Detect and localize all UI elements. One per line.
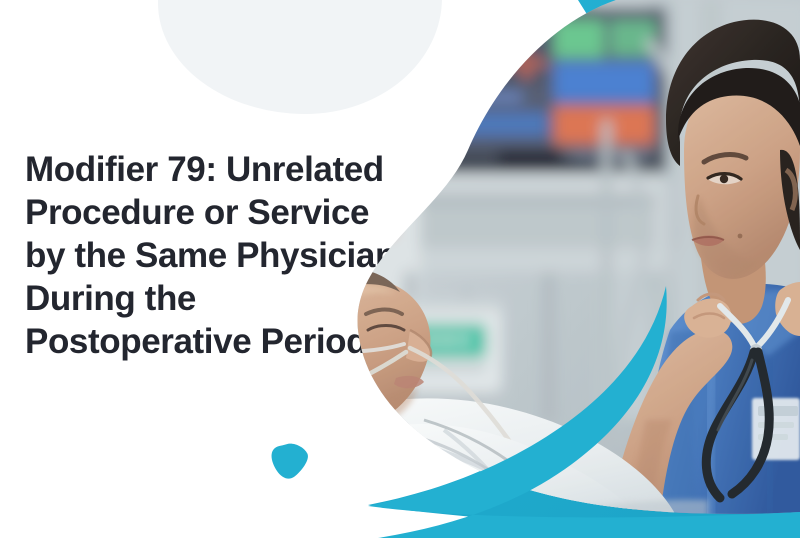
cyan-rounded-triangle-icon: [271, 443, 309, 479]
cyan-pick-accent: [271, 443, 309, 479]
article-hero-banner: Modifier 79: Unrelated Procedure or Serv…: [0, 0, 800, 538]
hero-artwork-svg: [348, 0, 800, 538]
hero-artwork: [348, 0, 800, 538]
